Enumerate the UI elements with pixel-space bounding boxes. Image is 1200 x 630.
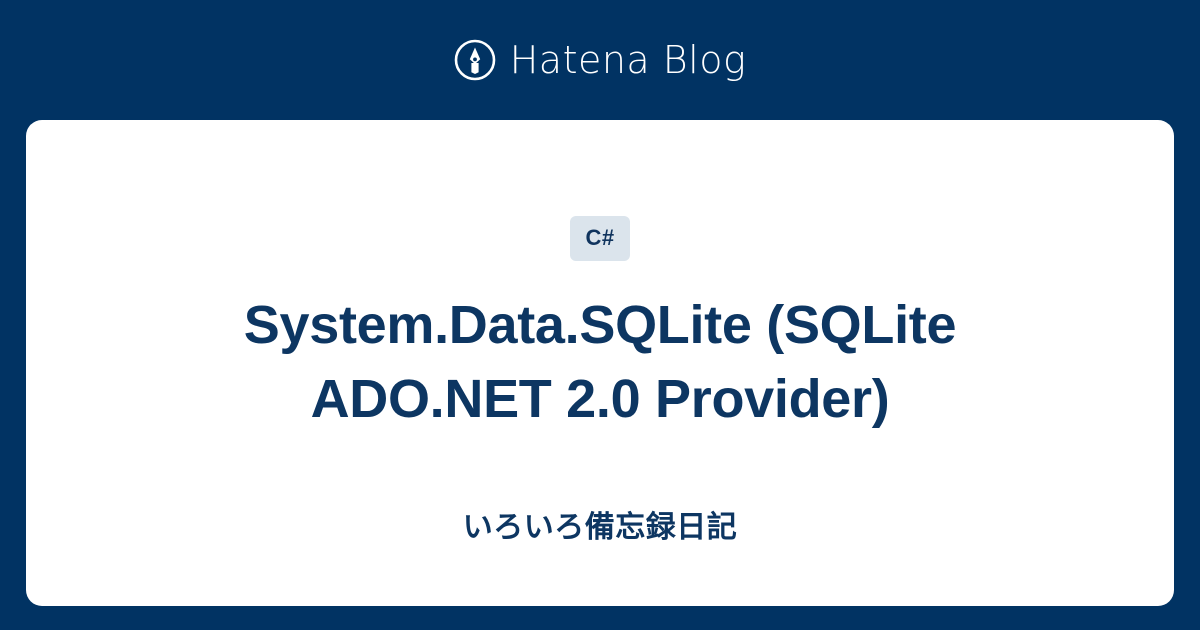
hatena-pen-nib-icon	[454, 39, 496, 81]
blog-subtitle: いろいろ備忘録日記	[463, 508, 738, 547]
entry-title: System.Data.SQLite (SQLite ADO.NET 2.0 P…	[190, 288, 1010, 436]
site-header: Hatena Blog	[0, 0, 1200, 120]
category-badge[interactable]: C#	[570, 216, 629, 261]
brand-name: Hatena Blog	[510, 41, 747, 79]
entry-card: C# System.Data.SQLite (SQLite ADO.NET 2.…	[26, 120, 1174, 606]
